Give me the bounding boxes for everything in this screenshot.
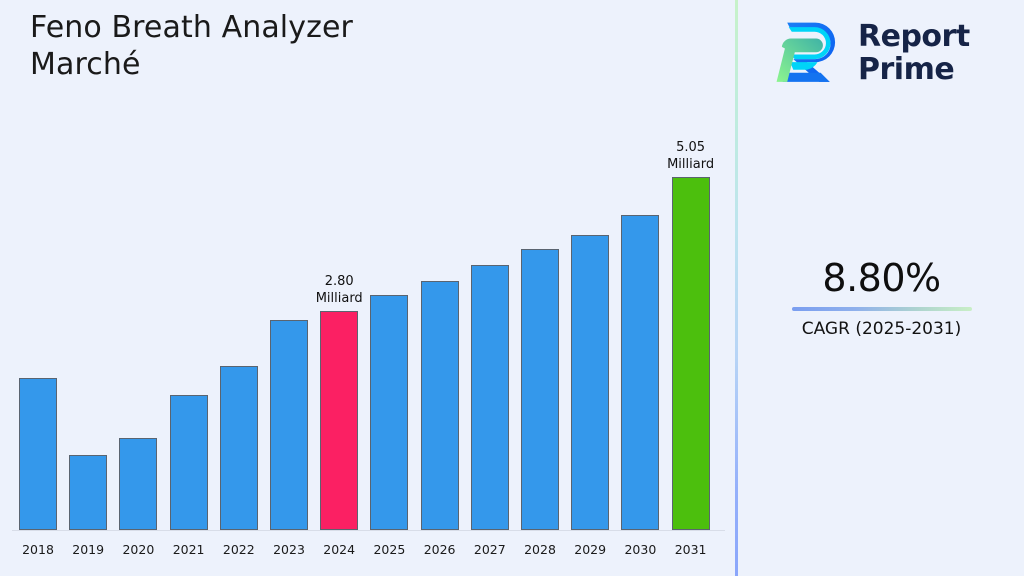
panel-divider <box>735 0 738 576</box>
bar-2026 <box>421 281 459 530</box>
bar-2024 <box>320 311 358 530</box>
x-tick-2031: 2031 <box>661 542 721 557</box>
report-prime-logo-icon <box>772 15 848 91</box>
brand-wordmark: Report Prime <box>858 20 970 86</box>
x-axis-line <box>12 530 725 531</box>
chart-panel: Feno Breath Analyzer Marché 201820192020… <box>0 0 736 576</box>
bar-2029 <box>571 235 609 530</box>
bar-value-label-2024: 2.80 Milliard <box>294 273 384 307</box>
cagr-value: 8.80% <box>739 255 1024 301</box>
bar-2027 <box>471 265 509 530</box>
bar-2030 <box>621 215 659 530</box>
brand-logo: Report Prime <box>772 12 1012 94</box>
cagr-divider-rule <box>792 307 972 311</box>
bar-2020 <box>119 438 157 530</box>
bar-chart: 2018201920202021202220232024202520262027… <box>0 0 736 576</box>
brand-panel: Report Prime 8.80% CAGR (2025-2031) <box>739 0 1024 576</box>
bar-value-label-2031: 5.05 Milliard <box>646 139 736 173</box>
infographic-root: Feno Breath Analyzer Marché 201820192020… <box>0 0 1024 576</box>
cagr-block: 8.80% CAGR (2025-2031) <box>739 255 1024 340</box>
cagr-caption: CAGR (2025-2031) <box>739 318 1024 340</box>
bar-2023 <box>270 320 308 530</box>
bar-2019 <box>69 455 107 530</box>
bar-2025 <box>370 295 408 530</box>
bar-2028 <box>521 249 559 530</box>
bar-2018 <box>19 378 57 530</box>
bar-2031 <box>672 177 710 530</box>
bar-2022 <box>220 366 258 530</box>
bar-2021 <box>170 395 208 530</box>
